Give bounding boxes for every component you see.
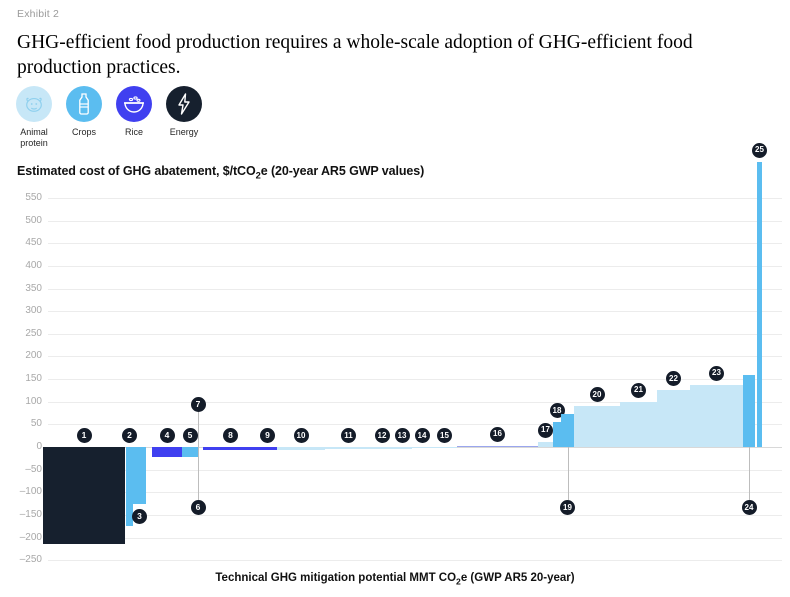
- bar-badge-10: 10: [294, 428, 309, 443]
- bar-9: [258, 447, 277, 450]
- bar-badge-16: 16: [490, 427, 505, 442]
- y-axis-tick-label: –200: [2, 532, 42, 543]
- gridline: [48, 266, 782, 267]
- bar-1: [43, 447, 125, 544]
- exhibit-label: Exhibit 2: [17, 8, 59, 20]
- bar-badge-7: 7: [191, 397, 206, 412]
- bar-16: [457, 446, 538, 447]
- bar-badge-13: 13: [395, 428, 410, 443]
- legend-item-label: Crops: [60, 127, 108, 138]
- y-axis-tick-label: 100: [2, 396, 42, 407]
- page-title: GHG-efficient food production requires a…: [17, 30, 737, 80]
- y-axis-tick-label: 150: [2, 373, 42, 384]
- legend: Animal proteinCropsRiceEnergy: [10, 86, 210, 148]
- y-axis-tick-label: 450: [2, 237, 42, 248]
- gridline: [48, 334, 782, 335]
- y-axis-tick-label: 250: [2, 328, 42, 339]
- bar-21: [620, 402, 657, 447]
- gridline: [48, 243, 782, 244]
- bar-badge-12: 12: [375, 428, 390, 443]
- bar-badge-1: 1: [77, 428, 92, 443]
- bar-12: [372, 447, 392, 449]
- bar-badge-5: 5: [183, 428, 198, 443]
- bar-badge-14: 14: [415, 428, 430, 443]
- bar-10: [277, 447, 325, 450]
- bar-20: [574, 406, 620, 447]
- y-axis-tick-label: 550: [2, 192, 42, 203]
- legend-item-label: Energy: [160, 127, 208, 138]
- bar-badge-6: 6: [191, 500, 206, 515]
- gridline: [48, 379, 782, 380]
- bar-badge-2: 2: [122, 428, 137, 443]
- x-axis-title: Technical GHG mitigation potential MMT C…: [0, 572, 790, 586]
- bar-4: [152, 447, 182, 457]
- y-axis-tick-label: 400: [2, 260, 42, 271]
- legend-item-label: Animal protein: [10, 127, 58, 148]
- y-axis-tick-label: –150: [2, 509, 42, 520]
- lightning-bolt-icon: [166, 86, 202, 122]
- legend-item-rice: Rice: [110, 86, 158, 148]
- bar-badge-25: 25: [752, 143, 767, 158]
- gridline: [48, 560, 782, 561]
- gridline: [48, 311, 782, 312]
- gridline: [48, 538, 782, 539]
- bar-badge-18: 18: [550, 403, 565, 418]
- gridline: [48, 424, 782, 425]
- bar-3: [133, 447, 146, 504]
- bar-11: [325, 447, 372, 449]
- badge-leader-line: [568, 447, 569, 500]
- bar-badge-19: 19: [560, 500, 575, 515]
- badge-leader-line: [198, 447, 199, 500]
- bar-23: [690, 385, 743, 447]
- bar-24: [743, 375, 755, 447]
- gridline: [48, 515, 782, 516]
- y-axis-tick-label: 300: [2, 305, 42, 316]
- gridline: [48, 289, 782, 290]
- bar-badge-9: 9: [260, 428, 275, 443]
- exhibit-page: Exhibit 2 GHG-efficient food production …: [0, 0, 790, 597]
- gridline: [48, 470, 782, 471]
- legend-item-label: Rice: [110, 127, 158, 138]
- bar-badge-15: 15: [437, 428, 452, 443]
- bar-badge-11: 11: [341, 428, 356, 443]
- bar-2: [126, 447, 133, 526]
- gridline: [48, 492, 782, 493]
- badge-leader-line: [198, 412, 199, 447]
- y-axis-tick-label: 50: [2, 418, 42, 429]
- bar-badge-20: 20: [590, 387, 605, 402]
- rice-bowl-icon: [116, 86, 152, 122]
- y-axis-tick-label: 500: [2, 215, 42, 226]
- y-axis-tick-label: –250: [2, 554, 42, 565]
- bar-13: [392, 447, 412, 449]
- gridline: [48, 221, 782, 222]
- legend-item-crops: Crops: [60, 86, 108, 148]
- bar-badge-21: 21: [631, 383, 646, 398]
- badge-leader-line: [749, 447, 750, 500]
- bar-badge-4: 4: [160, 428, 175, 443]
- chart-subtitle: Estimated cost of GHG abatement, $/tCO2e…: [17, 164, 424, 181]
- bottle-icon: [66, 86, 102, 122]
- bar-badge-24: 24: [742, 500, 757, 515]
- gridline: [48, 356, 782, 357]
- bar-25: [757, 162, 762, 447]
- bar-15: [432, 447, 457, 448]
- gridline: [48, 402, 782, 403]
- bar-14: [412, 447, 432, 448]
- bar-badge-8: 8: [223, 428, 238, 443]
- y-axis-tick-label: –100: [2, 486, 42, 497]
- bar-badge-22: 22: [666, 371, 681, 386]
- gridline: [48, 447, 782, 448]
- bar-badge-23: 23: [709, 366, 724, 381]
- y-axis-tick-label: –50: [2, 464, 42, 475]
- legend-item-energy: Energy: [160, 86, 208, 148]
- legend-item-animal-protein: Animal protein: [10, 86, 58, 148]
- bar-5: [182, 447, 198, 457]
- y-axis-tick-label: 350: [2, 283, 42, 294]
- bar-18: [553, 422, 561, 447]
- bar-17: [538, 442, 553, 447]
- bar-22: [657, 390, 690, 447]
- bar-badge-3: 3: [132, 509, 147, 524]
- bar-badge-17: 17: [538, 423, 553, 438]
- bar-8: [203, 447, 258, 450]
- gridline: [48, 198, 782, 199]
- cow-icon: [16, 86, 52, 122]
- bar-19: [561, 414, 574, 447]
- y-axis-tick-label: 200: [2, 350, 42, 361]
- y-axis-tick-label: 0: [2, 441, 42, 452]
